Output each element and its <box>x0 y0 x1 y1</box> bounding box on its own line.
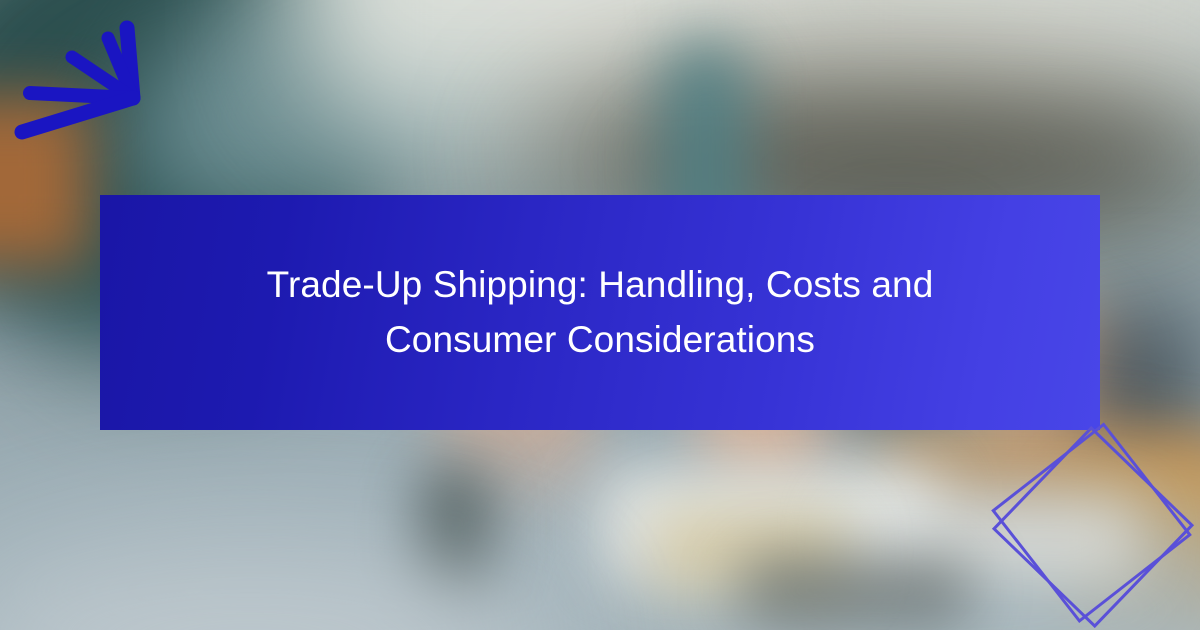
social-share-card: Trade-Up Shipping: Handling, Costs and C… <box>0 0 1200 630</box>
bg-shape-wood-panel <box>0 96 90 266</box>
bg-shape-dark-object-2 <box>740 555 970 625</box>
title-banner: Trade-Up Shipping: Handling, Costs and C… <box>100 195 1100 430</box>
page-title: Trade-Up Shipping: Handling, Costs and C… <box>240 258 960 368</box>
